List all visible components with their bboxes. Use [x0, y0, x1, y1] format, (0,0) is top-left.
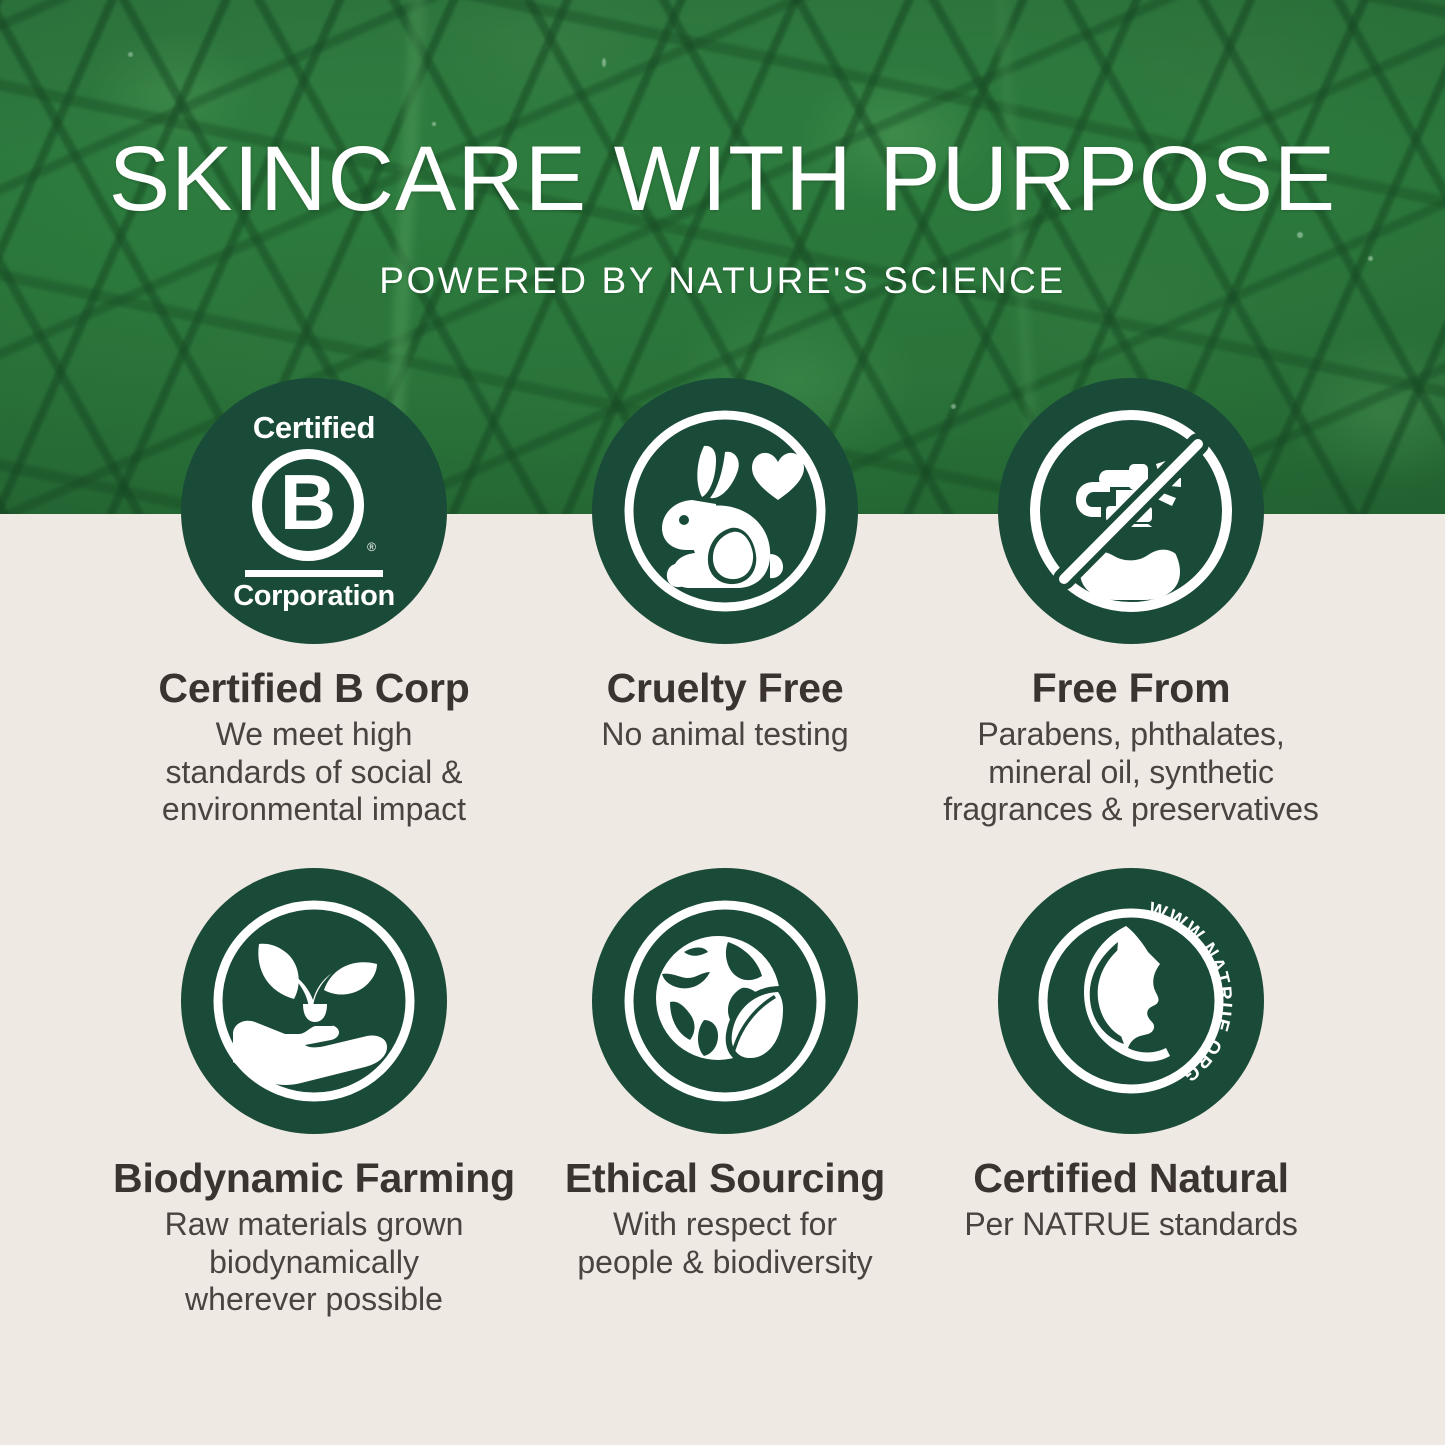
claims-grid: Certified B ® Corporation Certified B Co…: [0, 0, 1445, 1445]
b-corp-badge-icon: Certified B ® Corporation: [181, 378, 447, 644]
claim-title: Certified Natural: [890, 1156, 1372, 1200]
b-corp-bottom-word: Corporation: [181, 582, 447, 611]
no-spray-bottle-icon: [998, 378, 1264, 644]
claim-description: We meet high standards of social & envir…: [73, 716, 555, 828]
skincare-with-purpose-infographic: SKINCARE WITH PURPOSE POWERED BY NATURE'…: [0, 0, 1445, 1445]
claim-description: Raw materials grown biodynamically where…: [73, 1206, 555, 1318]
claim-card-free-from: Free From Parabens, phthalates, mineral …: [890, 378, 1372, 829]
b-corp-registered-mark: ®: [367, 541, 376, 553]
claim-card-biodynamic-farming: Biodynamic Farming Raw materials grown b…: [73, 868, 555, 1319]
b-corp-divider-rule: [245, 570, 383, 577]
claim-card-certified-natural: WWW.NATRUE.ORG Certified Natural Per NAT…: [890, 868, 1372, 1244]
globe-leaf-icon: [592, 868, 858, 1134]
claim-title: Biodynamic Farming: [73, 1156, 555, 1200]
b-corp-top-word: Certified: [181, 412, 447, 443]
b-corp-letter-row: B ®: [181, 449, 447, 561]
claim-description: Parabens, phthalates, mineral oil, synth…: [890, 716, 1372, 828]
rabbit-heart-icon: [592, 378, 858, 644]
b-corp-circle: B: [252, 449, 364, 561]
claim-title: Free From: [890, 666, 1372, 710]
claim-title: Certified B Corp: [73, 666, 555, 710]
b-corp-letter: B: [280, 463, 336, 541]
hand-sprout-icon: [181, 868, 447, 1134]
natrue-seal-icon: WWW.NATRUE.ORG: [998, 868, 1264, 1134]
claim-description: Per NATRUE standards: [890, 1206, 1372, 1243]
claim-card-certified-b-corp: Certified B ® Corporation Certified B Co…: [73, 378, 555, 829]
